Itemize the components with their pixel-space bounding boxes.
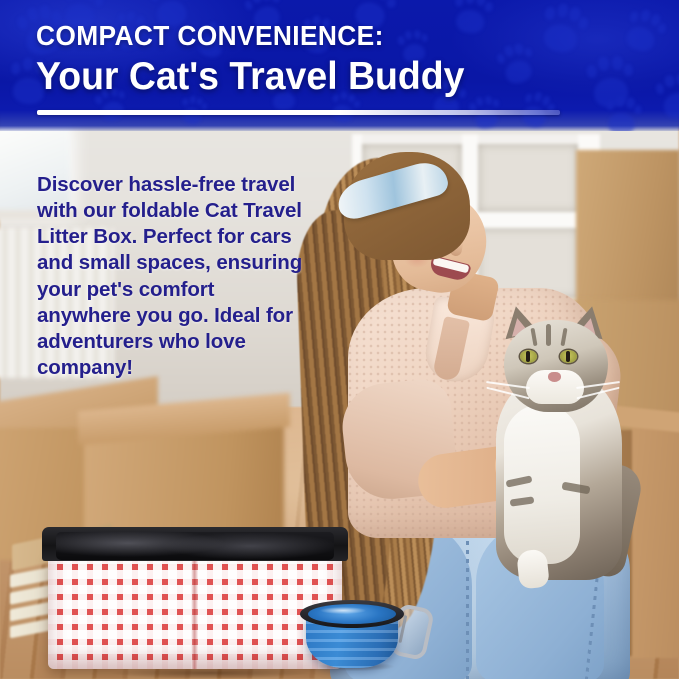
header-headline: Your Cat's Travel Buddy bbox=[36, 57, 653, 96]
litter-box-black-lining bbox=[56, 532, 334, 560]
description-paragraph: Discover hassle-free travel with our fol… bbox=[37, 172, 305, 381]
bowl-highlight bbox=[320, 607, 366, 614]
litter-box-fold-seam bbox=[191, 557, 198, 669]
cat-pupil-left bbox=[526, 351, 530, 362]
product-travel-bowl bbox=[300, 598, 404, 670]
cat-paw bbox=[516, 549, 550, 590]
header-underline-rule bbox=[37, 110, 560, 115]
header-kicker: COMPACT CONVENIENCE: bbox=[36, 22, 640, 50]
cat-forehead-stripe bbox=[546, 324, 551, 346]
cat-nose bbox=[548, 372, 561, 382]
product-banner: COMPACT CONVENIENCE: Your Cat's Travel B… bbox=[0, 0, 679, 679]
jeans-seam bbox=[466, 532, 469, 679]
cat-pupil-right bbox=[566, 351, 570, 362]
paw-print-icon bbox=[603, 95, 643, 131]
tabby-cat bbox=[470, 288, 640, 588]
